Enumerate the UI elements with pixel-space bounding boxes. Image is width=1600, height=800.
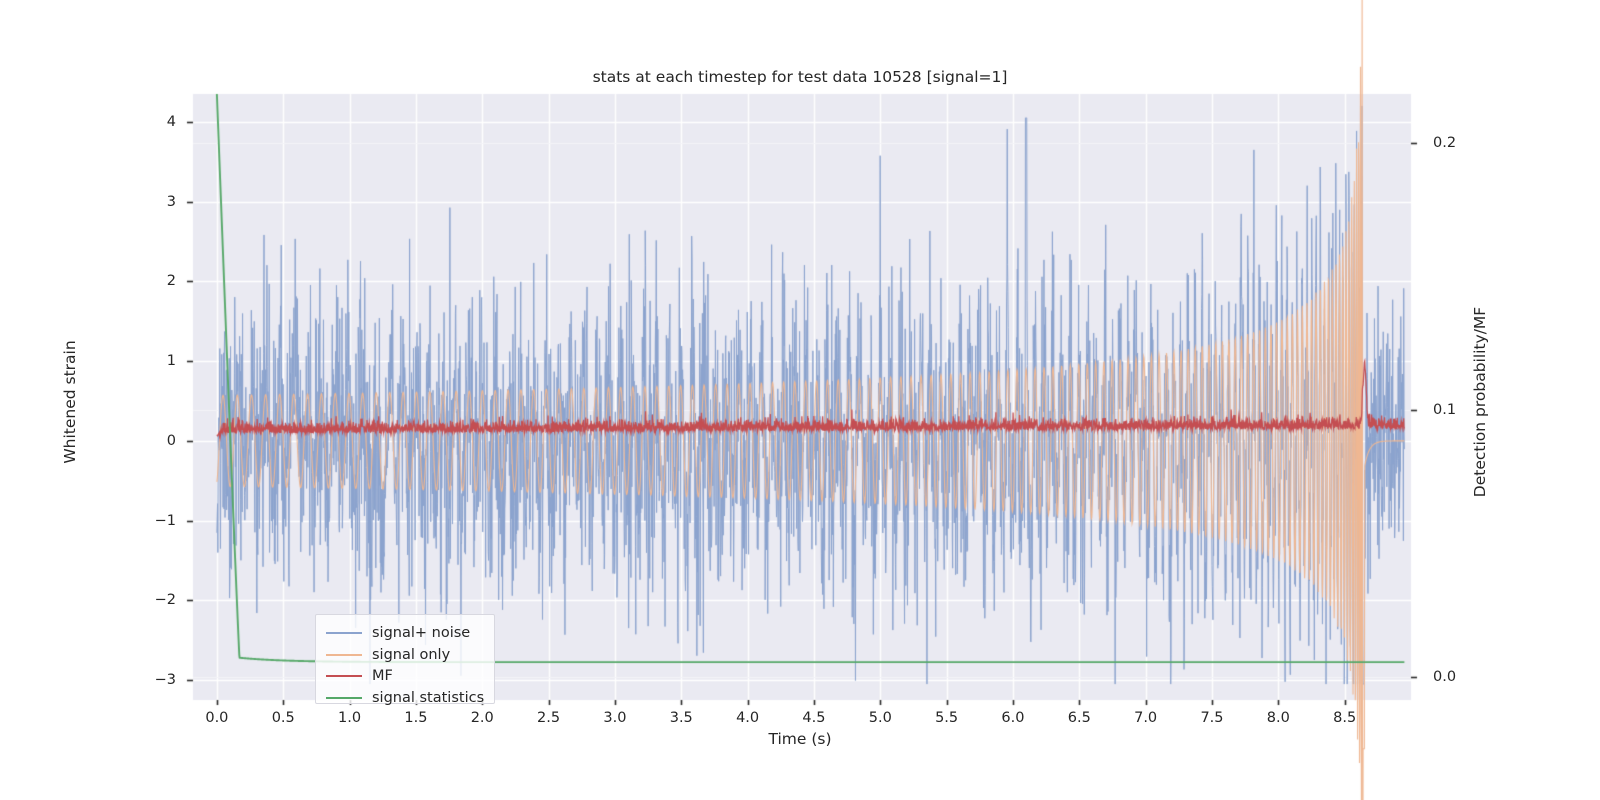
plot-canvas bbox=[0, 0, 1600, 800]
x-tick-label: 6.0 bbox=[1001, 710, 1024, 726]
legend-item[interactable]: signal statistics bbox=[326, 687, 484, 709]
legend-item[interactable]: MF bbox=[326, 665, 393, 687]
legend-label: signal statistics bbox=[372, 687, 484, 709]
x-tick-label: 1.5 bbox=[404, 710, 427, 726]
x-tick-label: 2.0 bbox=[471, 710, 494, 726]
x-tick-label: 0.0 bbox=[205, 710, 228, 726]
y-tick-label-left: 0 bbox=[130, 433, 176, 449]
legend-color-swatch bbox=[326, 654, 362, 656]
chart-figure: stats at each timestep for test data 105… bbox=[0, 0, 1600, 800]
legend-item[interactable]: signal only bbox=[326, 644, 450, 666]
chart-legend[interactable]: signal+ noisesignal onlyMFsignal statist… bbox=[315, 614, 495, 704]
x-tick-label: 4.0 bbox=[736, 710, 759, 726]
legend-color-swatch bbox=[326, 632, 362, 634]
y-tick-label-left: −1 bbox=[130, 513, 176, 529]
y-tick-label-left: 4 bbox=[130, 114, 176, 130]
y-tick-label-left: −3 bbox=[130, 672, 176, 688]
y-tick-label-left: 2 bbox=[130, 273, 176, 289]
page-title: stats at each timestep for test data 105… bbox=[0, 68, 1600, 86]
x-tick-label: 7.5 bbox=[1200, 710, 1223, 726]
x-tick-label: 6.5 bbox=[1068, 710, 1091, 726]
x-tick-label: 0.5 bbox=[272, 710, 295, 726]
x-tick-label: 8.0 bbox=[1267, 710, 1290, 726]
x-tick-label: 3.5 bbox=[670, 710, 693, 726]
y-tick-label-right: 0.0 bbox=[1433, 669, 1456, 685]
y-axis-label-right: Detection probability/MF bbox=[1471, 272, 1489, 532]
x-tick-label: 7.0 bbox=[1134, 710, 1157, 726]
y-axis-label-left: Whitened strain bbox=[61, 272, 79, 532]
x-tick-label: 4.5 bbox=[802, 710, 825, 726]
y-tick-label-right: 0.1 bbox=[1433, 402, 1456, 418]
legend-label: signal only bbox=[372, 644, 450, 666]
legend-color-swatch bbox=[326, 697, 362, 699]
x-tick-label: 8.5 bbox=[1333, 710, 1356, 726]
x-tick-label: 5.0 bbox=[869, 710, 892, 726]
y-tick-label-left: 1 bbox=[130, 353, 176, 369]
y-tick-label-left: −2 bbox=[130, 592, 176, 608]
y-tick-label-right: 0.2 bbox=[1433, 135, 1456, 151]
x-tick-label: 3.0 bbox=[603, 710, 626, 726]
x-tick-label: 5.5 bbox=[935, 710, 958, 726]
x-tick-label: 2.5 bbox=[537, 710, 560, 726]
legend-label: signal+ noise bbox=[372, 622, 470, 644]
x-axis-label: Time (s) bbox=[0, 730, 1600, 748]
legend-color-swatch bbox=[326, 675, 362, 677]
legend-item[interactable]: signal+ noise bbox=[326, 622, 470, 644]
legend-label: MF bbox=[372, 665, 393, 687]
y-tick-label-left: 3 bbox=[130, 194, 176, 210]
x-tick-label: 1.0 bbox=[338, 710, 361, 726]
